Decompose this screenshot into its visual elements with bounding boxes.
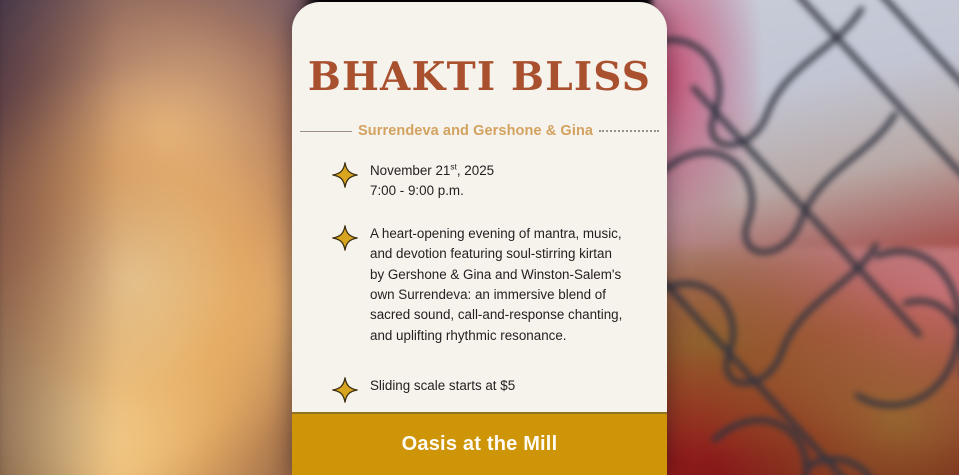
page-title: BHAKTI BLISS [292, 2, 667, 97]
venue-name: Oasis at the Mill [402, 433, 558, 456]
venue-footer: Oasis at the Mill [292, 412, 667, 475]
price-line: Sliding scale starts at $5 [370, 376, 515, 396]
description-line: sacred sound, call-and-response chanting… [370, 305, 622, 325]
list-item-price: Sliding scale starts at $5 [332, 376, 639, 403]
performers-subtitle: Surrendeva and Gershone & Gina [358, 123, 593, 139]
event-time: 7:00 - 9:00 p.m. [370, 181, 494, 201]
detail-list: November 21st, 2025 7:00 - 9:00 p.m. A h… [292, 161, 667, 403]
four-point-star-icon [332, 377, 358, 403]
list-item-datetime: November 21st, 2025 7:00 - 9:00 p.m. [332, 161, 639, 202]
background-left-bokeh [0, 0, 309, 475]
ornament-strokes-icon [652, 0, 959, 475]
four-point-star-icon [332, 162, 358, 188]
flyer-content: BHAKTI BLISS Surrendeva and Gershone & G… [292, 2, 667, 412]
event-date: November 21st, 2025 [370, 161, 494, 181]
description-line: A heart-opening evening of mantra, music… [370, 224, 622, 244]
price-text: Sliding scale starts at $5 [370, 376, 515, 396]
description-line: and uplifting rhythmic resonance. [370, 326, 622, 346]
event-flyer-card: BHAKTI BLISS Surrendeva and Gershone & G… [292, 2, 667, 475]
divider-left [300, 131, 352, 132]
description-text: A heart-opening evening of mantra, music… [370, 224, 622, 346]
flyer-stage: BHAKTI BLISS Surrendeva and Gershone & G… [0, 0, 959, 475]
list-item-description: A heart-opening evening of mantra, music… [332, 224, 639, 346]
background-right-ornament [652, 0, 959, 475]
divider-right [599, 130, 659, 132]
four-point-star-icon [332, 225, 358, 251]
subtitle-row: Surrendeva and Gershone & Gina [300, 123, 659, 139]
description-line: by Gershone & Gina and Winston-Salem's [370, 265, 622, 285]
description-line: and devotion featuring soul-stirring kir… [370, 244, 622, 264]
description-line: own Surrendeva: an immersive blend of [370, 285, 622, 305]
datetime-text: November 21st, 2025 7:00 - 9:00 p.m. [370, 161, 494, 202]
